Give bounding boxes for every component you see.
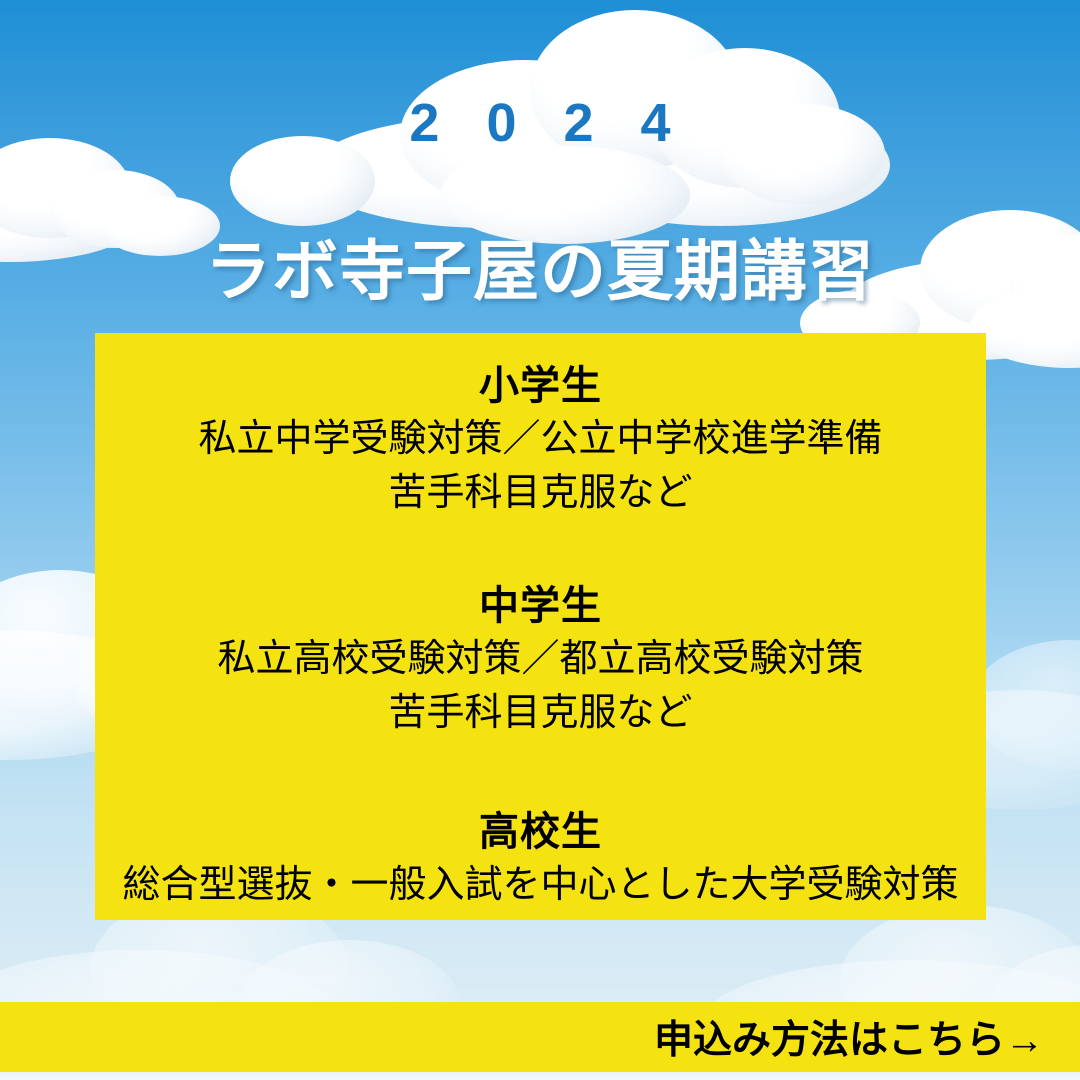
section-line: 苦手科目克服など bbox=[111, 467, 970, 521]
page-title: ラボ寺子屋の夏期講習 bbox=[0, 218, 1080, 314]
section-line: 私立高校受験対策／都立高校受験対策 bbox=[111, 633, 970, 687]
poster-canvas: 2 0 2 4 ラボ寺子屋の夏期講習 小学生 私立中学受験対策／公立中学校進学準… bbox=[0, 0, 1080, 1080]
section-heading: 中学生 bbox=[111, 581, 970, 631]
section-spacer bbox=[111, 755, 970, 807]
cta-bar[interactable]: 申込み方法はこちら→ bbox=[0, 1002, 1080, 1072]
year-label: 2 0 2 4 bbox=[0, 92, 1080, 154]
course-section-elementary: 小学生 私立中学受験対策／公立中学校進学準備 苦手科目克服など bbox=[111, 361, 970, 521]
section-heading: 高校生 bbox=[111, 807, 970, 857]
section-heading: 小学生 bbox=[111, 361, 970, 411]
section-line: 苦手科目克服など bbox=[111, 687, 970, 741]
bottom-strip bbox=[0, 1072, 1080, 1080]
course-section-juniorhigh: 中学生 私立高校受験対策／都立高校受験対策 苦手科目克服など bbox=[111, 581, 970, 741]
cta-label[interactable]: 申込み方法はこちら→ bbox=[654, 1009, 1044, 1065]
section-line: 総合型選抜・一般入試を中心とした大学受験対策 bbox=[111, 859, 970, 913]
section-spacer bbox=[111, 535, 970, 581]
course-section-highschool: 高校生 総合型選抜・一般入試を中心とした大学受験対策 bbox=[111, 807, 970, 913]
course-panel: 小学生 私立中学受験対策／公立中学校進学準備 苦手科目克服など 中学生 私立高校… bbox=[95, 333, 986, 920]
section-line: 私立中学受験対策／公立中学校進学準備 bbox=[111, 413, 970, 467]
